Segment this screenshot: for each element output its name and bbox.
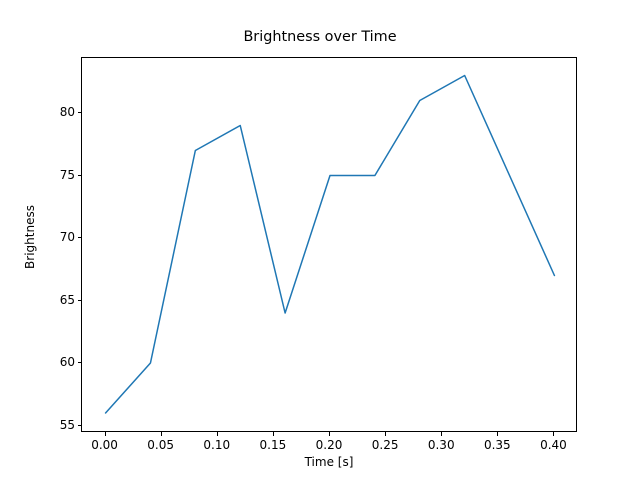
figure-canvas: Brightness over Time 0.000.050.100.150.2… (0, 0, 640, 480)
chart-title: Brightness over Time (0, 28, 640, 46)
x-tick-label: 0.35 (467, 438, 527, 452)
x-tick-mark (441, 432, 442, 436)
y-axis-tick-labels: 556065707580 (9, 0, 75, 480)
x-tick-mark (217, 432, 218, 436)
x-tick-mark (497, 432, 498, 436)
x-tick-mark (105, 432, 106, 436)
x-tick-label: 0.30 (411, 438, 471, 452)
y-axis-label: Brightness (23, 177, 37, 297)
x-tick-mark (161, 432, 162, 436)
y-tick-mark (78, 112, 82, 113)
x-tick-label: 0.05 (131, 438, 191, 452)
x-tick-label: 0.40 (523, 438, 583, 452)
y-tick-mark (78, 300, 82, 301)
x-tick-label: 0.25 (355, 438, 415, 452)
y-tick-mark (78, 425, 82, 426)
y-tick-mark (78, 362, 82, 363)
x-tick-mark (553, 432, 554, 436)
x-tick-mark (329, 432, 330, 436)
y-tick-mark (78, 175, 82, 176)
y-tick-label: 80 (15, 105, 75, 119)
line-series-svg (82, 58, 578, 433)
x-tick-label: 0.15 (243, 438, 303, 452)
x-axis-label: Time [s] (81, 455, 577, 469)
line-series-path (106, 76, 555, 414)
x-tick-mark (385, 432, 386, 436)
x-tick-label: 0.10 (187, 438, 247, 452)
plot-axes (81, 57, 577, 432)
x-tick-label: 0.20 (299, 438, 359, 452)
x-tick-mark (273, 432, 274, 436)
y-tick-label: 60 (15, 355, 75, 369)
y-tick-mark (78, 237, 82, 238)
x-tick-label: 0.00 (75, 438, 135, 452)
y-tick-label: 55 (15, 418, 75, 432)
